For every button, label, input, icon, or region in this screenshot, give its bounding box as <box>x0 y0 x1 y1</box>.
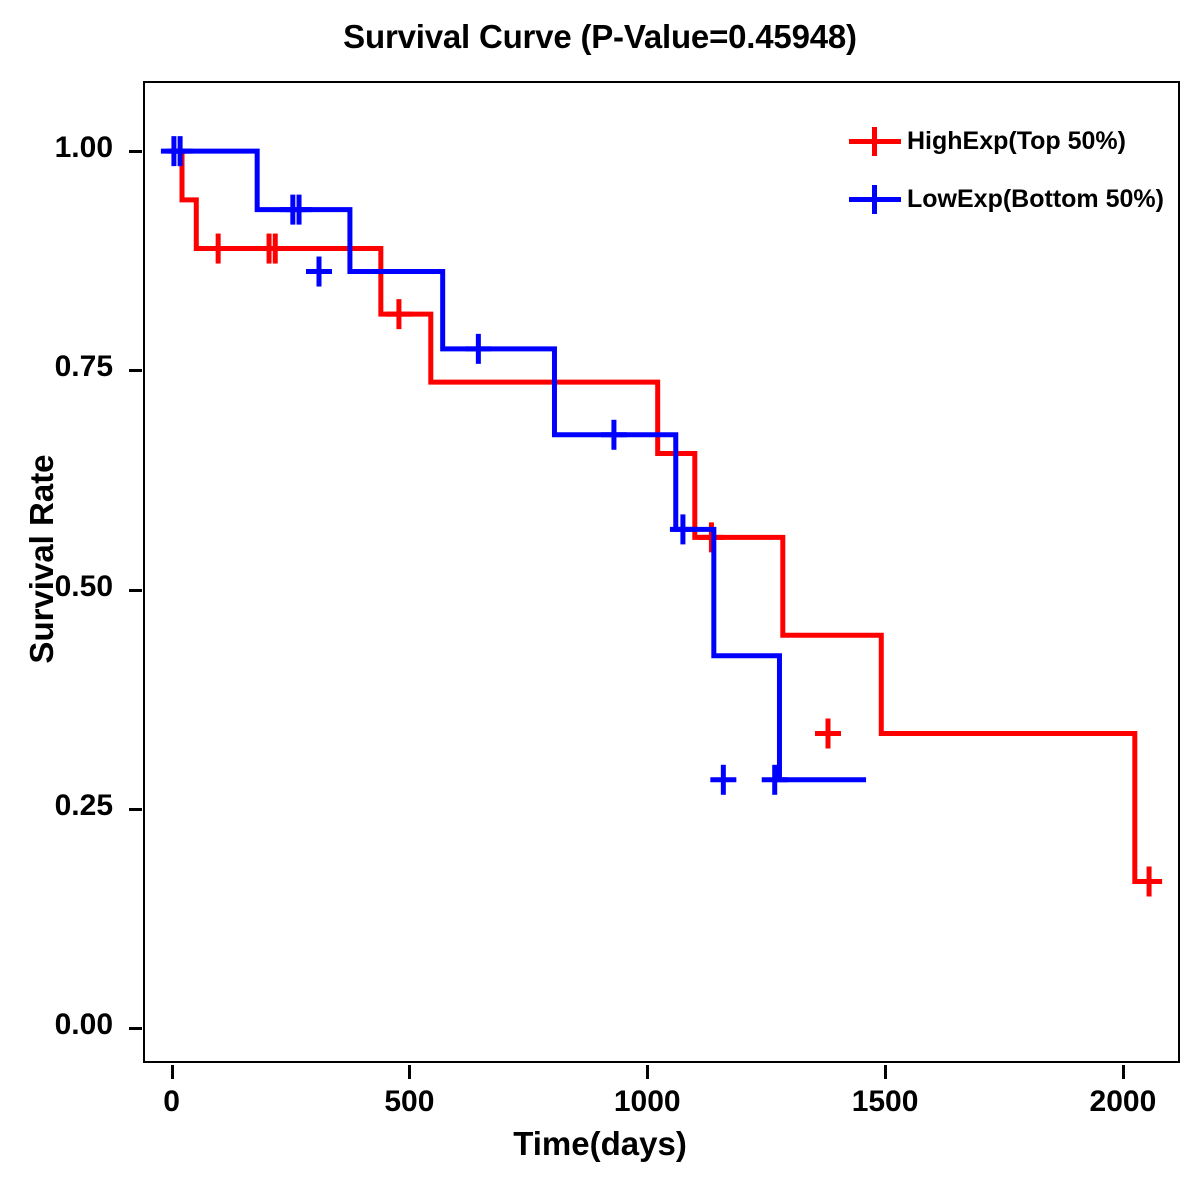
y-tick-mark <box>129 1027 142 1030</box>
y-tick-label: 0.25 <box>13 789 113 823</box>
plus-marker-icon <box>845 182 907 216</box>
x-tick-mark <box>646 1065 649 1079</box>
x-tick-label: 1000 <box>587 1085 707 1119</box>
y-axis-title: Survival Rate <box>23 409 61 709</box>
x-tick-mark <box>884 1065 887 1079</box>
legend: HighExp(Top 50%) LowExp(Bottom 50%) <box>845 112 1175 228</box>
legend-label-high-exp: HighExp(Top 50%) <box>907 127 1126 156</box>
x-tick-label: 0 <box>112 1085 232 1119</box>
y-tick-mark <box>129 808 142 811</box>
survival-curve-figure: Survival Curve (P-Value=0.45948) Surviva… <box>0 0 1200 1200</box>
plot-canvas <box>143 81 1180 1063</box>
x-tick-mark <box>171 1065 174 1079</box>
x-axis-title: Time(days) <box>0 1125 1200 1163</box>
y-tick-mark <box>129 150 142 153</box>
y-tick-label: 0.50 <box>13 570 113 604</box>
x-tick-mark <box>408 1065 411 1079</box>
y-tick-mark <box>129 369 142 372</box>
x-tick-label: 500 <box>349 1085 469 1119</box>
y-tick-mark <box>129 589 142 592</box>
x-tick-label: 2000 <box>1063 1085 1183 1119</box>
x-tick-label: 1500 <box>825 1085 945 1119</box>
y-tick-label: 1.00 <box>13 131 113 165</box>
legend-item-high-exp[interactable]: HighExp(Top 50%) <box>845 112 1175 170</box>
y-tick-label: 0.00 <box>13 1008 113 1042</box>
y-tick-label: 0.75 <box>13 350 113 384</box>
page-title: Survival Curve (P-Value=0.45948) <box>0 18 1200 56</box>
x-tick-mark <box>1122 1065 1125 1079</box>
legend-item-low-exp[interactable]: LowExp(Bottom 50%) <box>845 170 1175 228</box>
legend-label-low-exp: LowExp(Bottom 50%) <box>907 185 1164 214</box>
plus-marker-icon <box>845 124 907 158</box>
